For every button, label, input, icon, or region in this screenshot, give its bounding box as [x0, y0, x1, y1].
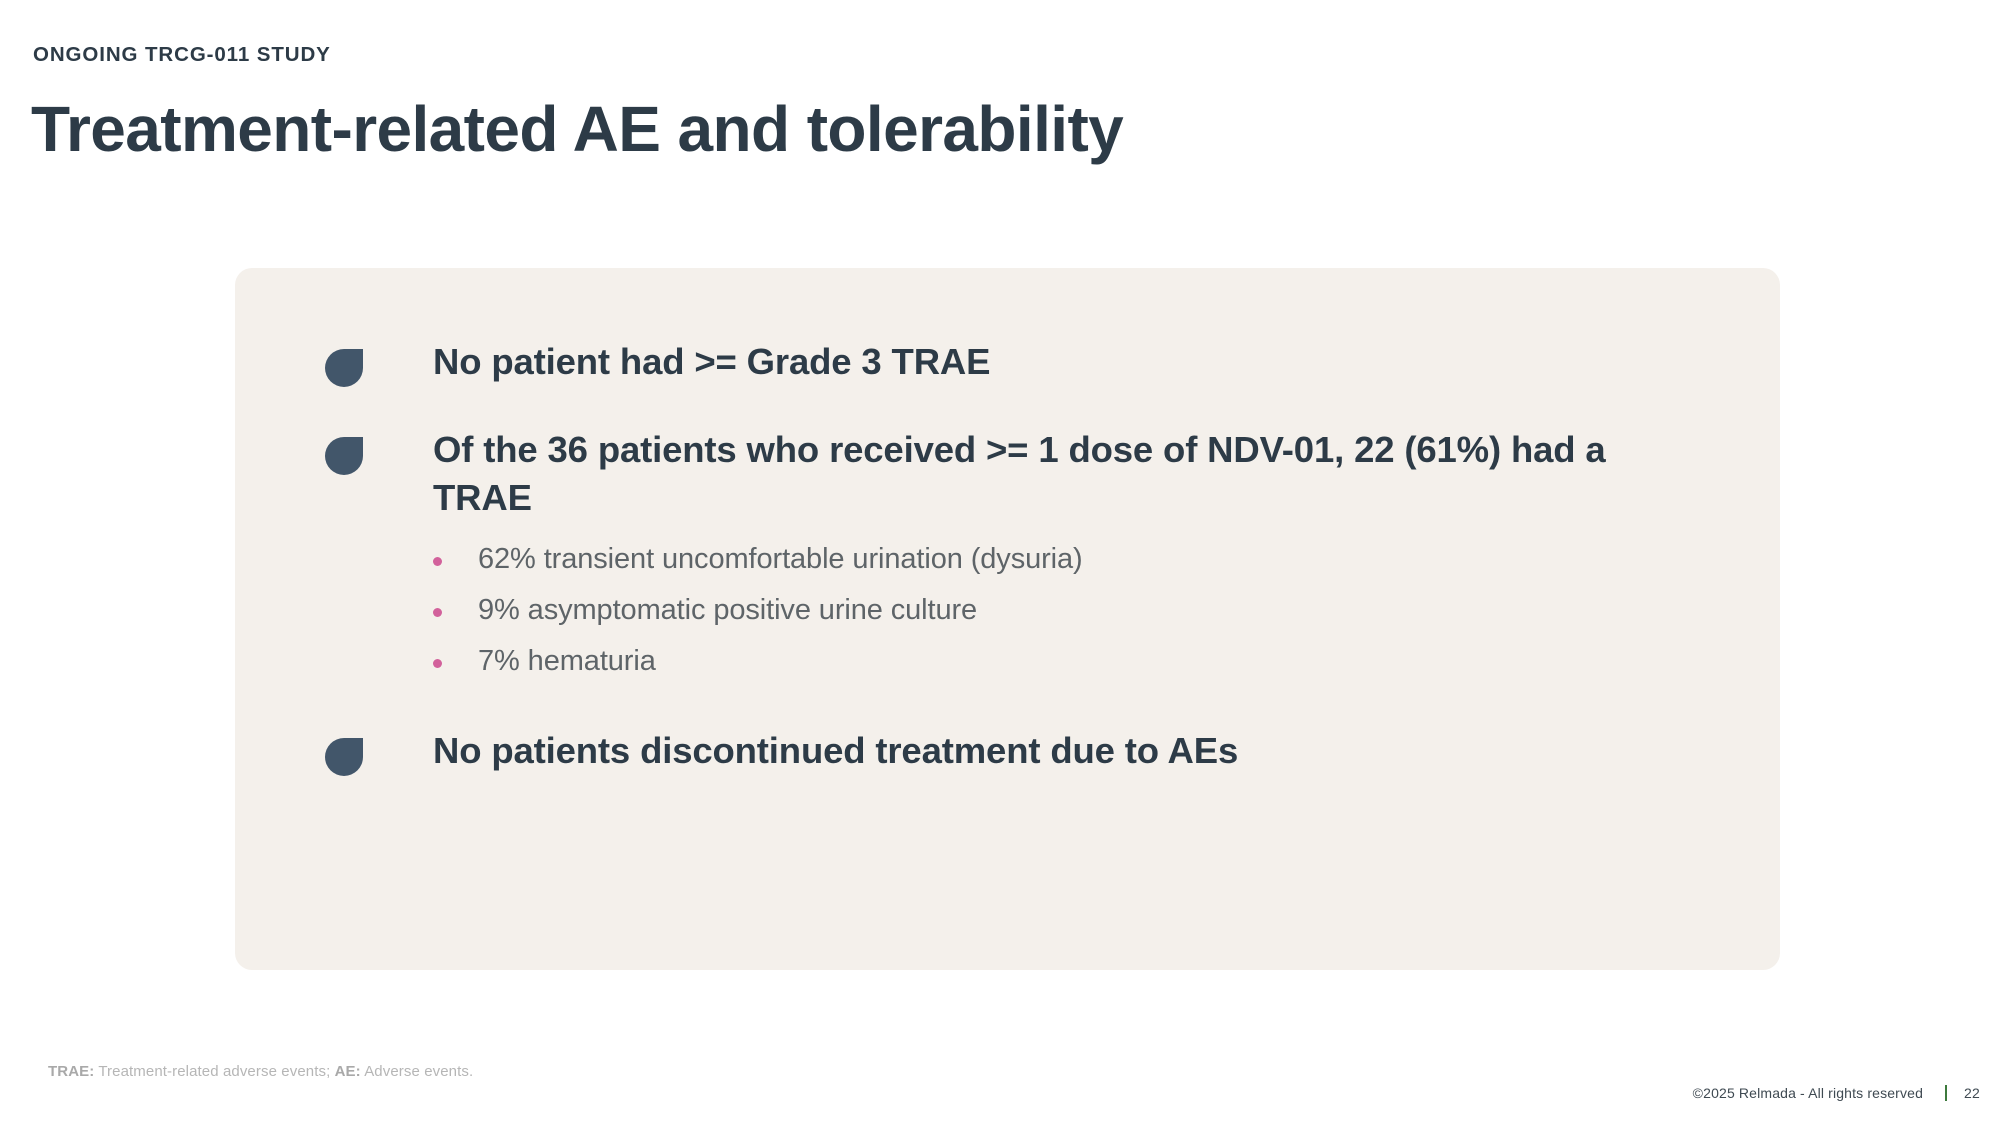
slide-footer: ©2025 Relmada - All rights reserved 22 — [1693, 1085, 1980, 1101]
bullet-row-2: Of the 36 patients who received >= 1 dos… — [325, 426, 1720, 522]
slide-canvas: ONGOING TRCG-011 STUDY Treatment-related… — [0, 0, 2000, 1125]
footer-divider — [1945, 1085, 1947, 1101]
bullet-label-3: No patients discontinued treatment due t… — [433, 727, 1238, 775]
sub-bullet-label-3: 7% hematuria — [478, 644, 656, 679]
slide-eyebrow: ONGOING TRCG-011 STUDY — [33, 43, 331, 67]
footnote: TRAE: Treatment-related adverse events; … — [48, 1063, 473, 1080]
footnote-label-ae: AE: — [335, 1063, 361, 1080]
dot-bullet-icon — [433, 557, 442, 566]
teardrop-bullet-icon — [325, 738, 363, 776]
sub-bullet-list: 62% transient uncomfortable urination (d… — [433, 542, 1720, 678]
footnote-text-trae: Treatment-related adverse events; — [94, 1063, 334, 1080]
footnote-label-trae: TRAE: — [48, 1063, 94, 1080]
bullet-label-1: No patient had >= Grade 3 TRAE — [433, 338, 990, 386]
teardrop-bullet-icon — [325, 349, 363, 387]
bullet-row-1: No patient had >= Grade 3 TRAE — [325, 338, 1720, 387]
bullet-label-2: Of the 36 patients who received >= 1 dos… — [433, 426, 1613, 522]
list-item: 9% asymptomatic positive urine culture — [433, 593, 1720, 628]
bullet-row-3: No patients discontinued treatment due t… — [325, 727, 1720, 776]
sub-bullet-label-2: 9% asymptomatic positive urine culture — [478, 593, 977, 628]
list-item: 62% transient uncomfortable urination (d… — [433, 542, 1720, 577]
sub-bullet-label-1: 62% transient uncomfortable urination (d… — [478, 542, 1083, 577]
footnote-text-ae: Adverse events. — [361, 1063, 474, 1080]
content-card: No patient had >= Grade 3 TRAE Of the 36… — [235, 268, 1780, 970]
page-title: Treatment-related AE and tolerability — [31, 97, 1123, 161]
teardrop-bullet-icon — [325, 437, 363, 475]
copyright-text: ©2025 Relmada - All rights reserved — [1693, 1085, 1923, 1101]
list-item: 7% hematuria — [433, 644, 1720, 679]
dot-bullet-icon — [433, 659, 442, 668]
page-number: 22 — [1964, 1085, 1980, 1101]
dot-bullet-icon — [433, 608, 442, 617]
content-card-inner: No patient had >= Grade 3 TRAE Of the 36… — [235, 268, 1780, 970]
